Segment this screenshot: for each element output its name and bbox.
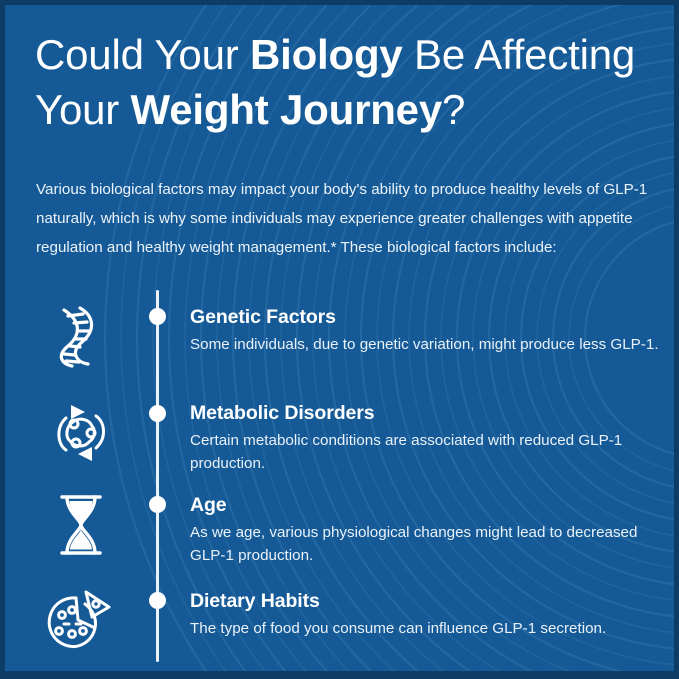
item-title-age: Age — [190, 493, 660, 517]
item-description-age: As we age, various physiological changes… — [190, 521, 660, 567]
headline-biology-bold: Biology — [250, 31, 403, 78]
headline-line1-lead: Could Your — [35, 31, 250, 78]
infographic-poster: Could Your Biology Be Affecting Your Wei… — [0, 0, 679, 679]
page-title: Could Your Biology Be Affecting Your Wei… — [35, 27, 655, 137]
timeline-dot-metabolic-disorders — [149, 405, 166, 422]
headline-line1-tail: Be Affecting — [403, 31, 635, 78]
headline-line2-tail: ? — [442, 86, 465, 133]
headline-line2-lead: Your — [35, 86, 131, 133]
intro-paragraph: Various biological factors may impact yo… — [36, 175, 651, 262]
metabolism-cycle-icon — [37, 393, 125, 473]
item-title-metabolic-disorders: Metabolic Disorders — [190, 401, 660, 425]
poster-panel: Could Your Biology Be Affecting Your Wei… — [5, 5, 674, 671]
timeline-dot-genetic-factors — [149, 308, 166, 325]
item-description-metabolic-disorders: Certain metabolic conditions are associa… — [190, 429, 660, 475]
headline-weight-journey-bold: Weight Journey — [131, 86, 442, 133]
item-title-dietary-habits: Dietary Habits — [190, 589, 660, 613]
item-description-dietary-habits: The type of food you consume can influen… — [190, 617, 660, 640]
item-title-genetic-factors: Genetic Factors — [190, 305, 660, 329]
item-description-genetic-factors: Some individuals, due to genetic variati… — [190, 333, 660, 356]
timeline-dot-age — [149, 496, 166, 513]
timeline-dot-dietary-habits — [149, 592, 166, 609]
dna-helix-icon — [37, 297, 125, 377]
pizza-slice-icon — [37, 581, 125, 661]
hourglass-icon — [37, 485, 125, 565]
